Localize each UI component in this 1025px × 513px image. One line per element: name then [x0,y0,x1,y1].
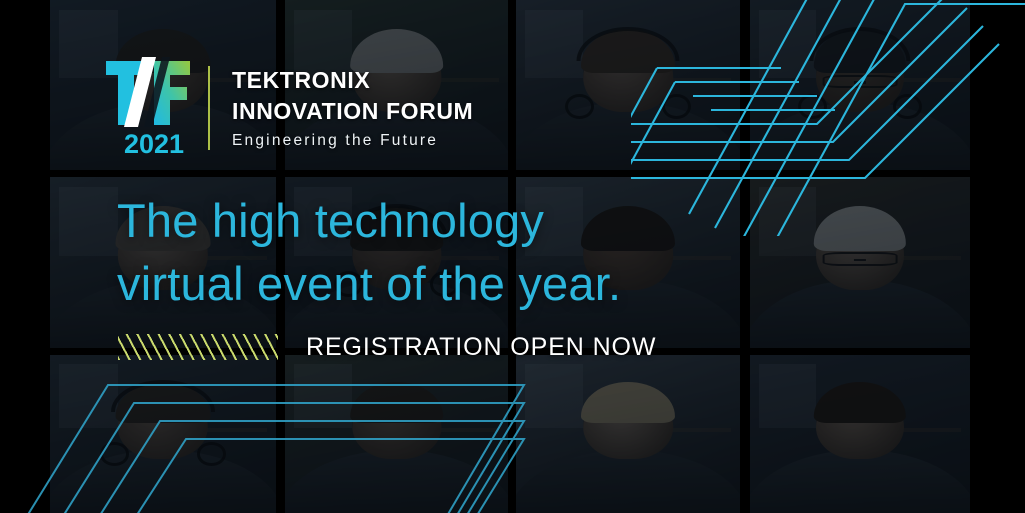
headline-line-2: virtual event of the year. [117,257,621,310]
logo-divider [208,66,210,150]
tile-tint [516,355,740,513]
participant-video-12 [750,355,970,513]
registration-cta[interactable]: REGISTRATION OPEN NOW [118,330,656,364]
tile-tint [750,355,970,513]
page-title: The high technology virtual event of the… [117,190,621,316]
participant-video-10 [285,355,508,513]
logo-year: 2021 [124,129,184,159]
brand-lockup: 2021 TEKTRONIX INNOVATION FORUM Engineer… [104,55,473,160]
participant-video-3 [516,0,740,170]
tile-tint [516,0,740,170]
participant-video-4 [750,0,970,170]
registration-cta-label[interactable]: REGISTRATION OPEN NOW [306,333,656,362]
participant-video-8 [750,177,970,348]
headline-line-1: The high technology [117,194,544,247]
tile-tint [285,355,508,513]
tile-tint [750,177,970,348]
wordmark-tagline: Engineering the Future [232,132,473,150]
tile-tint [750,0,970,170]
tif-logo-svg: 2021 [104,55,192,160]
participant-video-11 [516,355,740,513]
promo-banner: 2021 TEKTRONIX INNOVATION FORUM Engineer… [0,0,1025,513]
participant-video-9 [50,355,276,513]
tile-tint [50,355,276,513]
tif-logo-mark: 2021 [104,55,192,160]
lime-hatch-accent-icon [118,334,278,360]
wordmark: TEKTRONIX INNOVATION FORUM Engineering t… [232,65,473,150]
wordmark-line-2: INNOVATION FORUM [232,96,473,127]
wordmark-line-1: TEKTRONIX [232,65,473,96]
